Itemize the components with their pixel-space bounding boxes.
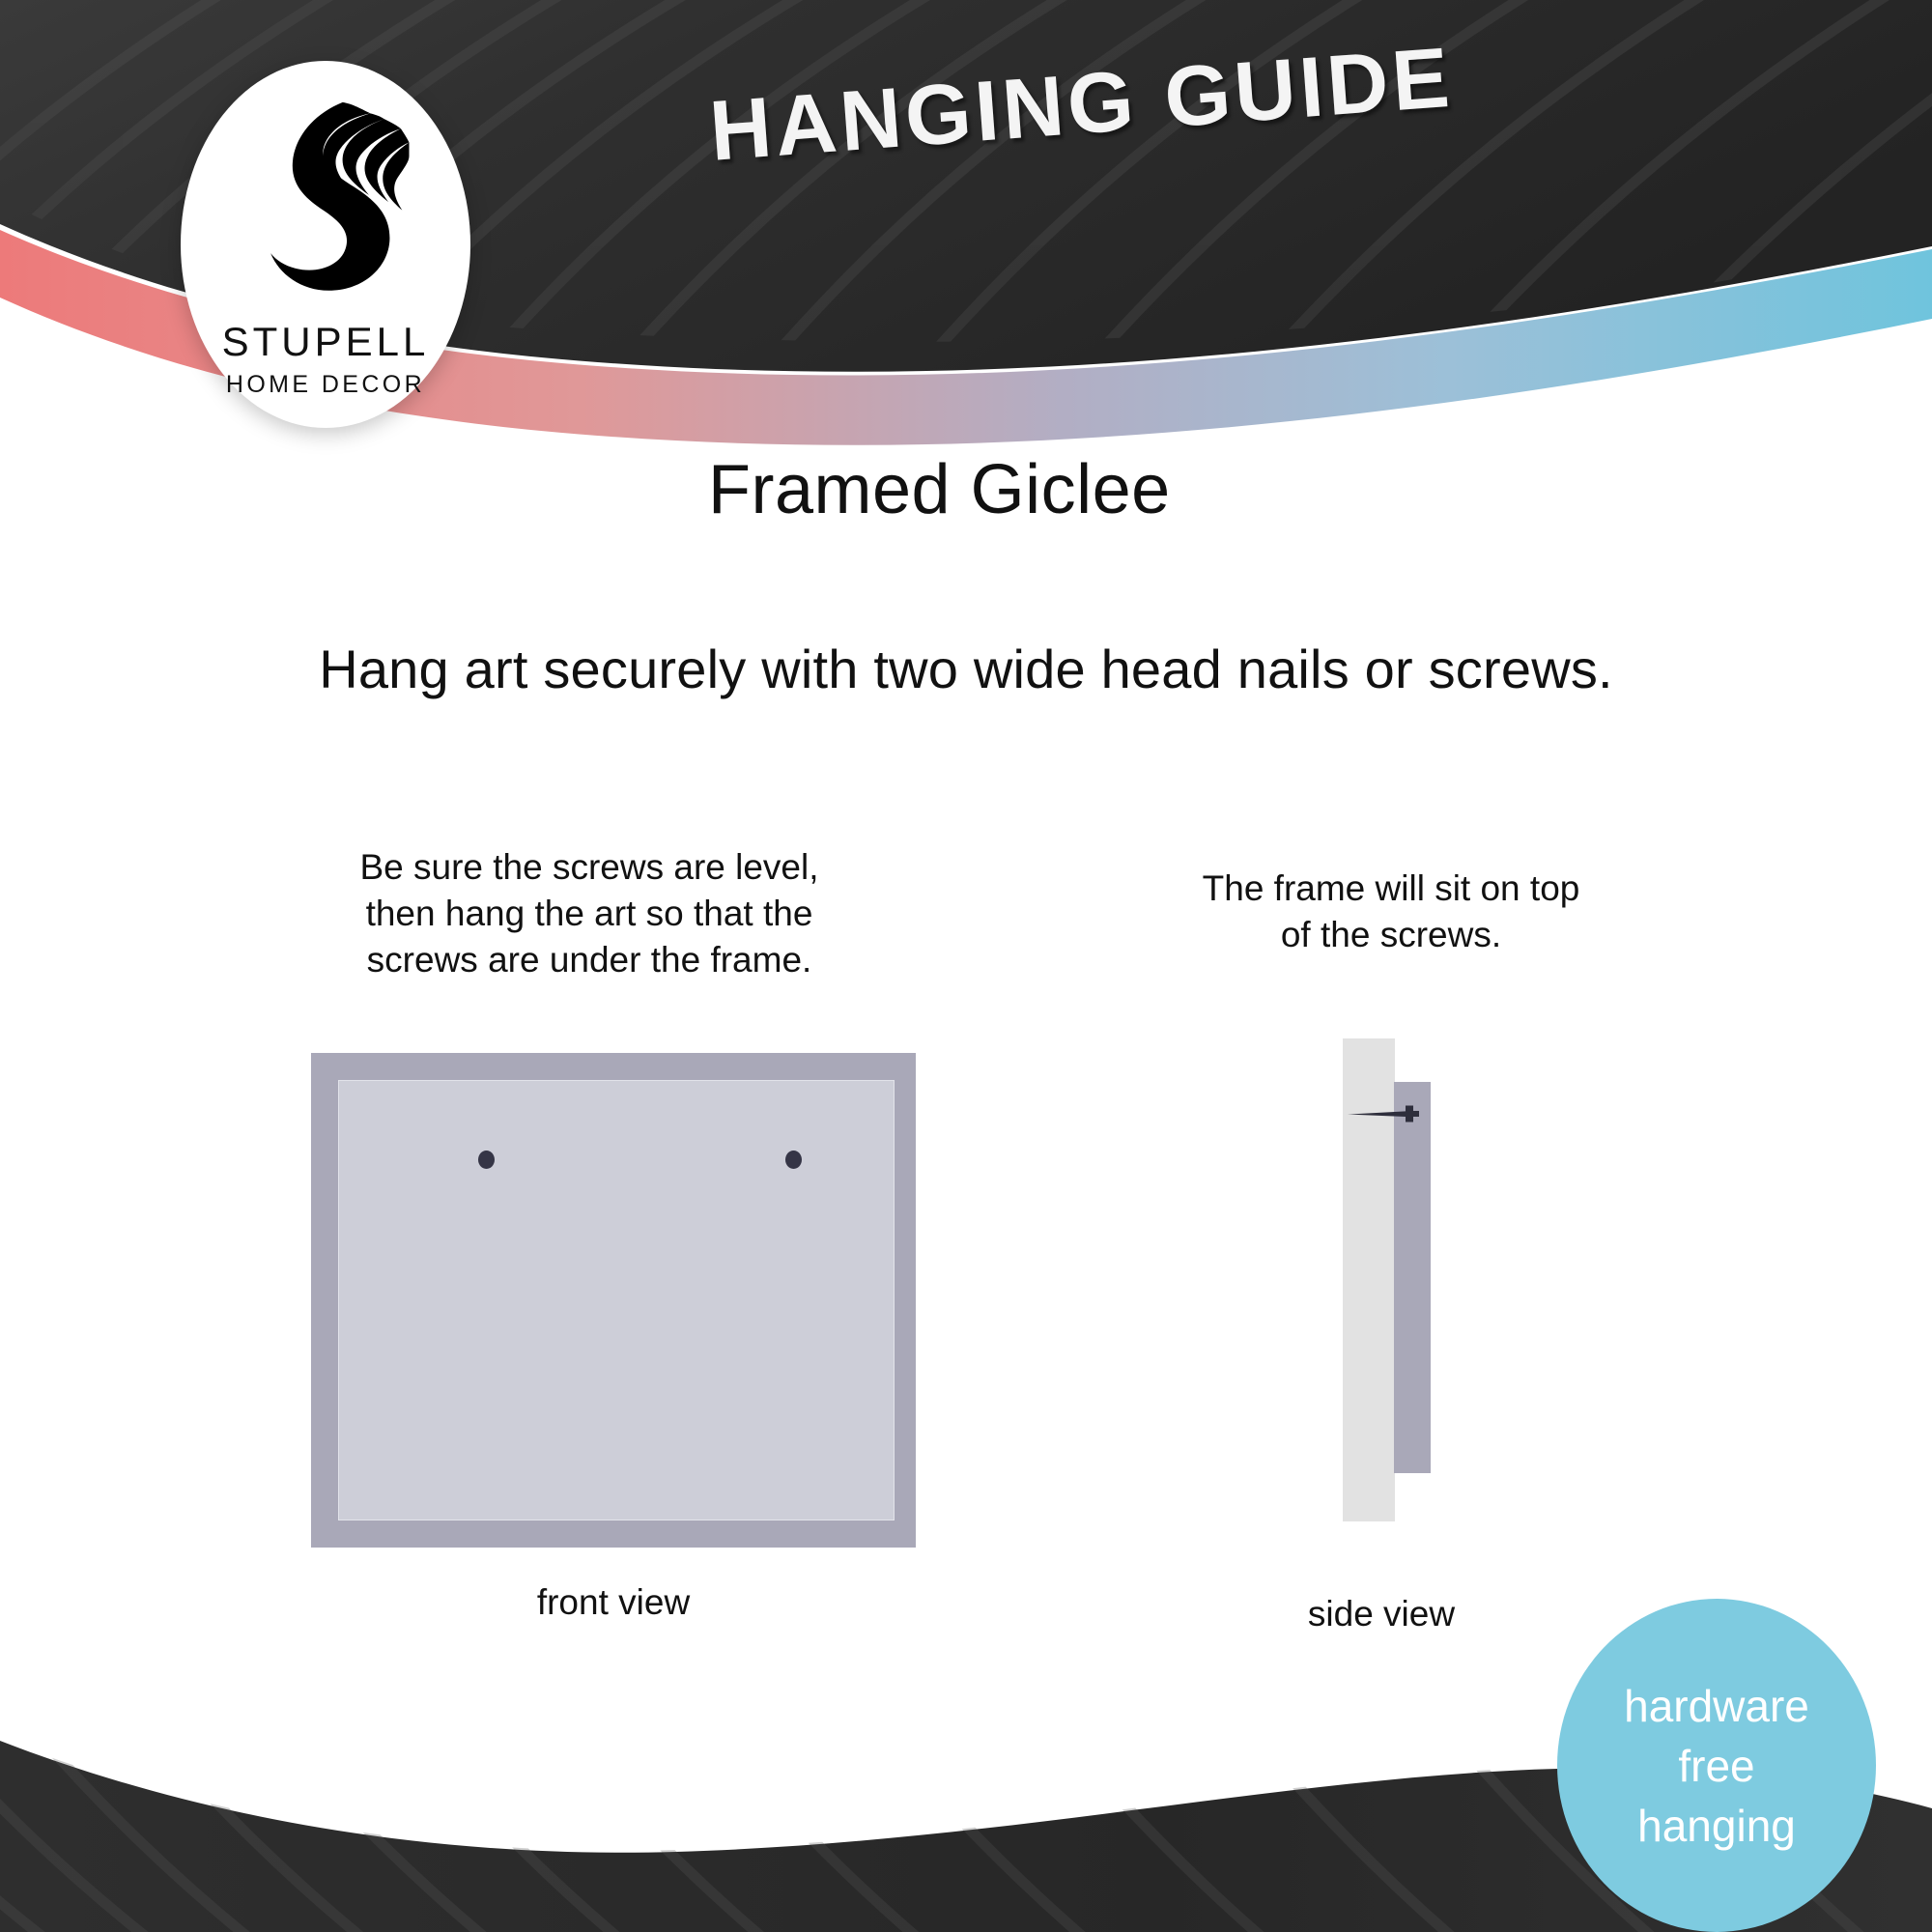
side-view-frame [1394,1082,1431,1473]
product-type: Framed Giclee [708,450,1171,529]
stupell-swirl-logo-icon [241,99,411,307]
side-caption-line-1: The frame will sit on top [1121,866,1662,912]
logo-wordmark: STUPELL [222,319,430,365]
hardware-free-hanging-badge: hardware free hanging [1557,1599,1876,1932]
badge-line-1: hardware [1624,1676,1809,1736]
page-title: HANGING GUIDE [706,28,1456,181]
front-caption-line-2: then hang the art so that the [251,891,927,937]
hanging-guide-page: STUPELL HOME DECOR HANGING GUIDE Framed … [0,0,1932,1932]
front-caption-line-3: screws are under the frame. [251,937,927,983]
front-view-frame-diagram [311,1053,916,1548]
front-view-mat [338,1080,895,1520]
logo-tagline: HOME DECOR [226,371,425,399]
side-view-caption: The frame will sit on top of the screws. [1121,866,1662,958]
nail-icon [1346,1101,1433,1126]
side-caption-line-2: of the screws. [1121,912,1662,958]
front-view-label: front view [309,1582,918,1623]
screw-right-icon [785,1151,802,1169]
front-view-caption: Be sure the screws are level, then hang … [251,844,927,983]
screw-left-icon [478,1151,495,1169]
badge-line-2: free [1678,1736,1754,1796]
brand-logo-badge: STUPELL HOME DECOR [181,61,470,428]
lead-instruction: Hang art securely with two wide head nai… [0,638,1932,700]
badge-line-3: hanging [1637,1796,1796,1856]
front-caption-line-1: Be sure the screws are level, [251,844,927,891]
side-view-label: side view [1227,1594,1536,1634]
